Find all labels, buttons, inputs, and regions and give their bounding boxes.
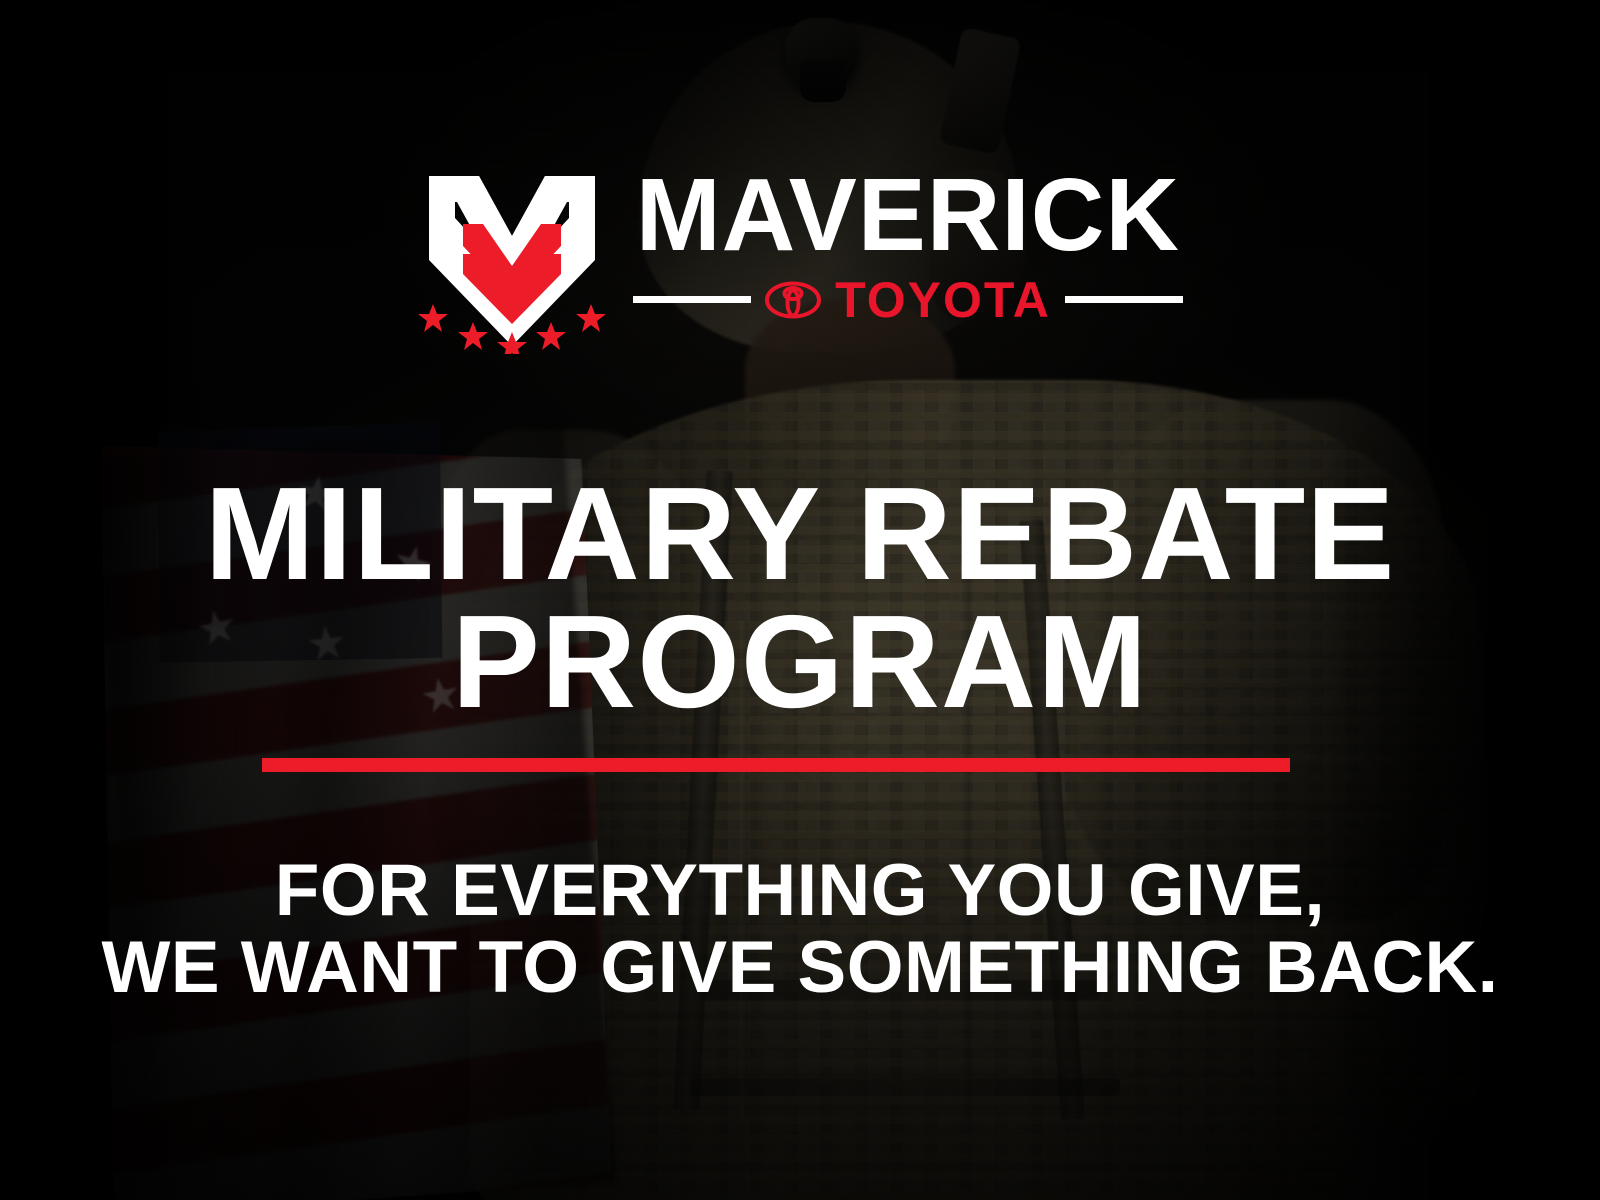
brand-name-maverick: MAVERICK: [636, 166, 1180, 265]
toyota-ellipse-logo: [765, 281, 821, 319]
wordmark-rule-left: [633, 296, 751, 303]
headline-line-1: MILITARY REBATE: [0, 470, 1600, 598]
tagline: FOR EVERYTHING YOU GIVE, WE WANT TO GIVE…: [0, 852, 1600, 1007]
military-rebate-promo-banner: ★ ★ ★ ★ ★: [0, 0, 1600, 1200]
manufacturer-name-toyota: TOYOTA: [835, 275, 1051, 325]
maverick-toyota-logo-lockup[interactable]: MAVERICK TOYOTA: [0, 162, 1600, 354]
tagline-line-2: WE WANT TO GIVE SOMETHING BACK.: [0, 929, 1600, 1006]
toyota-endorsement-row: TOYOTA: [633, 275, 1183, 325]
wordmark-rule-right: [1065, 296, 1183, 303]
red-divider-rule: [262, 758, 1290, 772]
brand-wordmark-group: MAVERICK TOYOTA: [633, 162, 1183, 325]
maverick-chevron-shield-emblem: [417, 162, 607, 354]
banner-content: MAVERICK TOYOTA MILITARY REBATE PROGRAM: [0, 0, 1600, 1200]
page-title: MILITARY REBATE PROGRAM: [0, 470, 1600, 726]
tagline-line-1: FOR EVERYTHING YOU GIVE,: [0, 852, 1600, 929]
headline-line-2: PROGRAM: [0, 598, 1600, 726]
